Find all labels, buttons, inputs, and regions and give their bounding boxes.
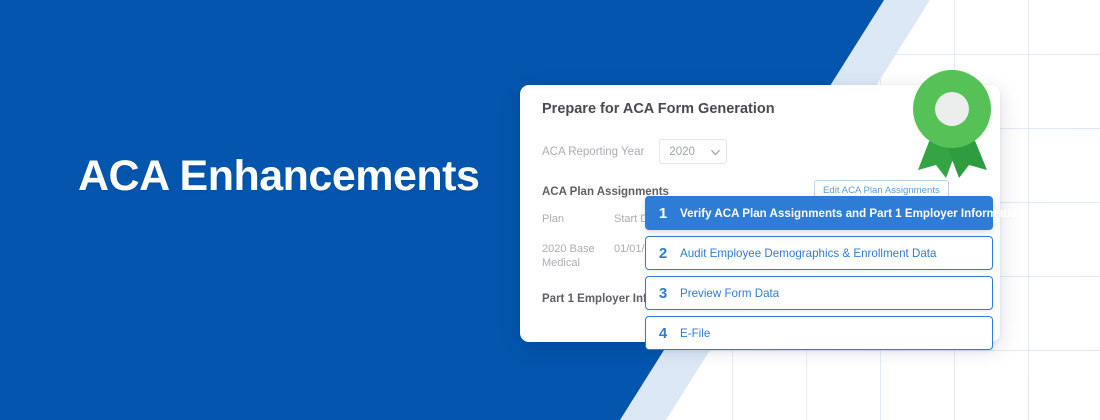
step-label: E-File (680, 327, 710, 340)
banner-stage: ACA Enhancements Prepare for ACA Form Ge… (0, 0, 1100, 420)
step-number: 2 (646, 245, 680, 262)
step-number: 3 (646, 285, 680, 302)
column-header-plan: Plan (542, 213, 614, 225)
step-label: Preview Form Data (680, 287, 779, 300)
page-title: ACA Enhancements (78, 152, 479, 201)
step-item-4[interactable]: 4 E-File (645, 316, 993, 350)
step-number: 4 (646, 325, 680, 342)
step-label: Audit Employee Demographics & Enrollment… (680, 247, 936, 260)
reporting-year-select[interactable]: 2020 (659, 139, 727, 164)
step-number: 1 (646, 205, 680, 222)
edit-aca-plan-assignments-label: Edit ACA Plan Assignments (823, 185, 940, 196)
chevron-down-icon (710, 147, 719, 156)
reporting-year-value: 2020 (669, 146, 695, 158)
aca-steps-list: 1 Verify ACA Plan Assignments and Part 1… (645, 196, 993, 356)
step-label: Verify ACA Plan Assignments and Part 1 E… (680, 207, 1025, 220)
step-item-2[interactable]: 2 Audit Employee Demographics & Enrollme… (645, 236, 993, 270)
cell-plan: 2020 Base Medical (542, 243, 614, 271)
reporting-year-label: ACA Reporting Year (542, 146, 644, 158)
step-item-3[interactable]: 3 Preview Form Data (645, 276, 993, 310)
step-item-1[interactable]: 1 Verify ACA Plan Assignments and Part 1… (645, 196, 993, 230)
card-title: Prepare for ACA Form Generation (542, 101, 775, 117)
reporting-year-field: ACA Reporting Year 2020 (542, 139, 727, 164)
award-ribbon-icon (905, 66, 1001, 178)
